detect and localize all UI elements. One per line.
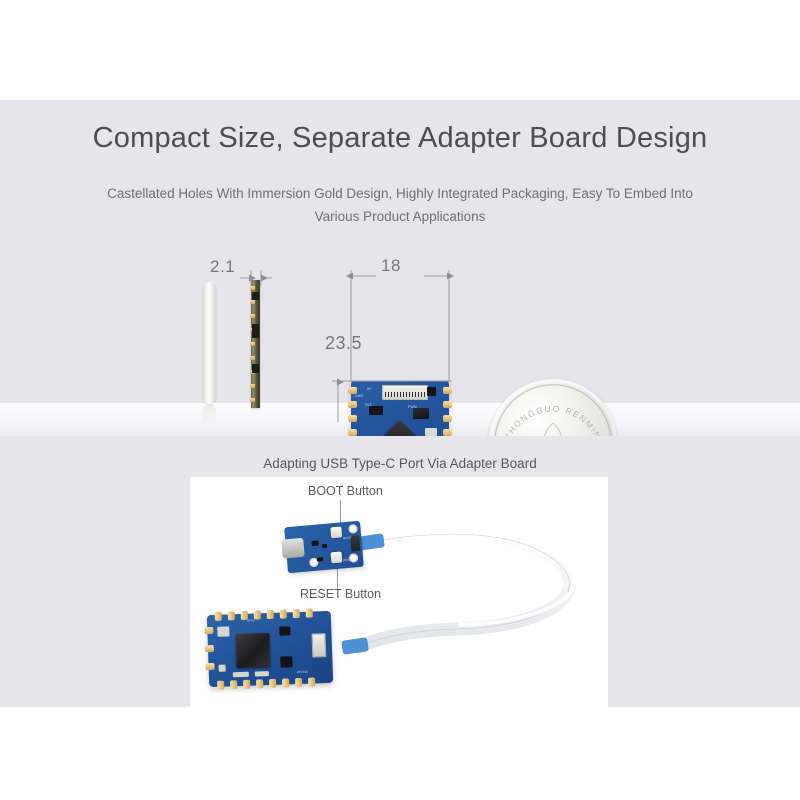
silk-reset: RESET bbox=[343, 558, 353, 563]
silk-boot: BOOT bbox=[343, 536, 352, 541]
hero-dimensions-section: Compact Size, Separate Adapter Board Des… bbox=[0, 100, 800, 436]
adapter-board-section: Adapting USB Type-C Port Via Adapter Boa… bbox=[0, 436, 800, 707]
mounting-hole-top bbox=[348, 524, 358, 534]
adapter-section-caption: Adapting USB Type-C Port Via Adapter Boa… bbox=[0, 456, 800, 471]
rp2040-chip-photo bbox=[235, 633, 270, 668]
usb-c-port bbox=[281, 538, 305, 559]
rp2040-board-photo: GPIO RP2040 bbox=[207, 611, 333, 687]
product-feature-page: Compact Size, Separate Adapter Board Des… bbox=[0, 0, 800, 800]
dimension-height: 23.5 bbox=[325, 333, 362, 354]
adapter-photo-panel: BOOT Button RESET Button BOOT RESET bbox=[190, 477, 608, 707]
reset-button[interactable] bbox=[331, 551, 343, 563]
board-fpc-connector bbox=[311, 633, 326, 657]
ribbon-end-board-side bbox=[341, 637, 369, 654]
reset-button-label: RESET Button bbox=[300, 587, 381, 601]
dimension-annotations: 2.1 18 23.5 bbox=[0, 100, 800, 436]
boot-button-label: BOOT Button bbox=[308, 484, 383, 498]
dimension-thickness: 2.1 bbox=[210, 257, 235, 277]
dimension-width: 18 bbox=[381, 256, 401, 276]
boot-button[interactable] bbox=[330, 526, 342, 538]
usb-c-adapter-board: BOOT RESET bbox=[284, 521, 364, 573]
